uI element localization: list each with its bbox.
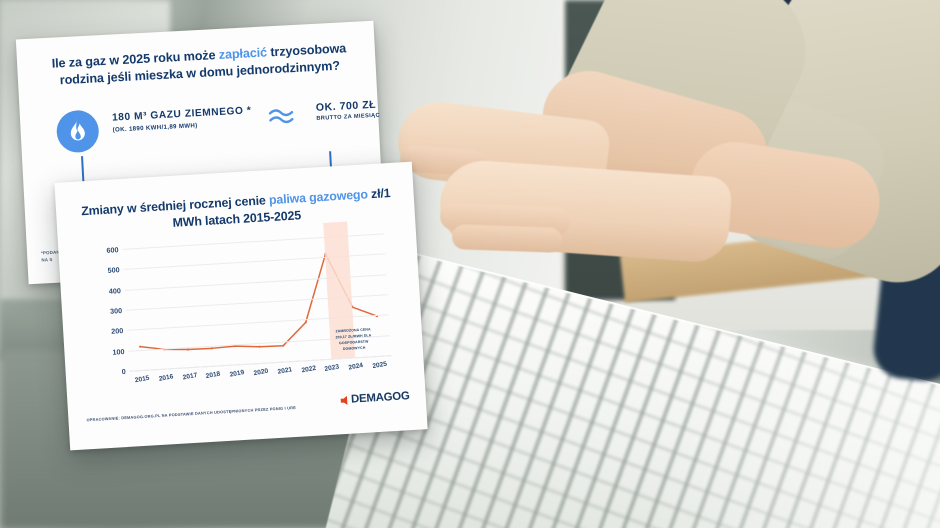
x-axis-tick-label: 2017 <box>176 371 203 383</box>
infographic-card-chart: Zmiany w średniej rocznej cenie paliwa g… <box>54 162 427 451</box>
x-axis-tick-label: 2025 <box>366 360 393 372</box>
screenshot-stage: Ile za gaz w 2025 roku może zapłacić trz… <box>0 0 940 528</box>
gas-quantity-block: 180 M³ GAZU ZIEMNEGO * (OK. 1890 KWH/1,8… <box>112 105 252 133</box>
y-axis-tick-label: 300 <box>92 306 122 317</box>
demagog-logo-text: DEMAGOG <box>351 390 410 405</box>
headline-highlight: zapłacić <box>218 45 267 62</box>
x-axis-tick-label: 2019 <box>224 368 251 380</box>
freeze-price-note: ZAMROŻONA CENA 200,17 ZŁ/MWH DLA GOSPODA… <box>331 326 376 353</box>
y-axis-tick-label: 500 <box>89 265 119 276</box>
flame-icon <box>56 109 100 153</box>
x-axis-tick-label: 2018 <box>200 369 227 381</box>
chart-plot-area: 0100200300400500600201520162017201820192… <box>122 233 391 370</box>
fingers-right-lower <box>452 224 563 253</box>
y-axis-tick-label: 100 <box>94 347 124 358</box>
chart-data-point <box>258 346 260 348</box>
x-axis-tick-label: 2023 <box>319 362 346 374</box>
chart-title: Zmiany w średniej rocznej cenie paliwa g… <box>76 185 397 239</box>
y-axis-tick-label: 0 <box>95 367 125 378</box>
gas-price-block: OK. 700 ZŁ BRUTTO ZA MIESIĄC <box>316 99 381 122</box>
x-axis-tick-label: 2016 <box>152 372 179 384</box>
demagog-logo: DEMAGOG <box>340 390 410 406</box>
card-top-stat-row: 180 M³ GAZU ZIEMNEGO * (OK. 1890 KWH/1,8… <box>36 93 368 164</box>
x-axis-tick-label: 2021 <box>271 365 298 377</box>
chart-data-point <box>187 348 189 350</box>
chart-title-highlight: paliwa gazowego <box>269 187 369 207</box>
approximately-equals-icon <box>268 105 303 127</box>
chart-source-footer: OPRACOWANIE: DEMAGOG.ORG.PL NA PODSTAWIE… <box>86 403 326 422</box>
y-axis-tick-label: 400 <box>91 286 121 297</box>
y-axis-tick-label: 600 <box>88 245 118 256</box>
line-chart: 0100200300400500600201520162017201820192… <box>80 229 405 405</box>
gas-price-main: OK. 700 ZŁ <box>316 99 380 114</box>
card-top-headline: Ile za gaz w 2025 roku może zapłacić trz… <box>35 39 364 91</box>
x-axis-tick-label: 2024 <box>343 361 370 373</box>
x-axis-tick-label: 2020 <box>248 367 275 379</box>
x-axis-tick-label: 2015 <box>129 374 156 386</box>
gas-price-sub: BRUTTO ZA MIESIĄC <box>316 113 380 122</box>
y-axis-tick-label: 200 <box>93 326 123 337</box>
megaphone-icon <box>340 394 350 406</box>
